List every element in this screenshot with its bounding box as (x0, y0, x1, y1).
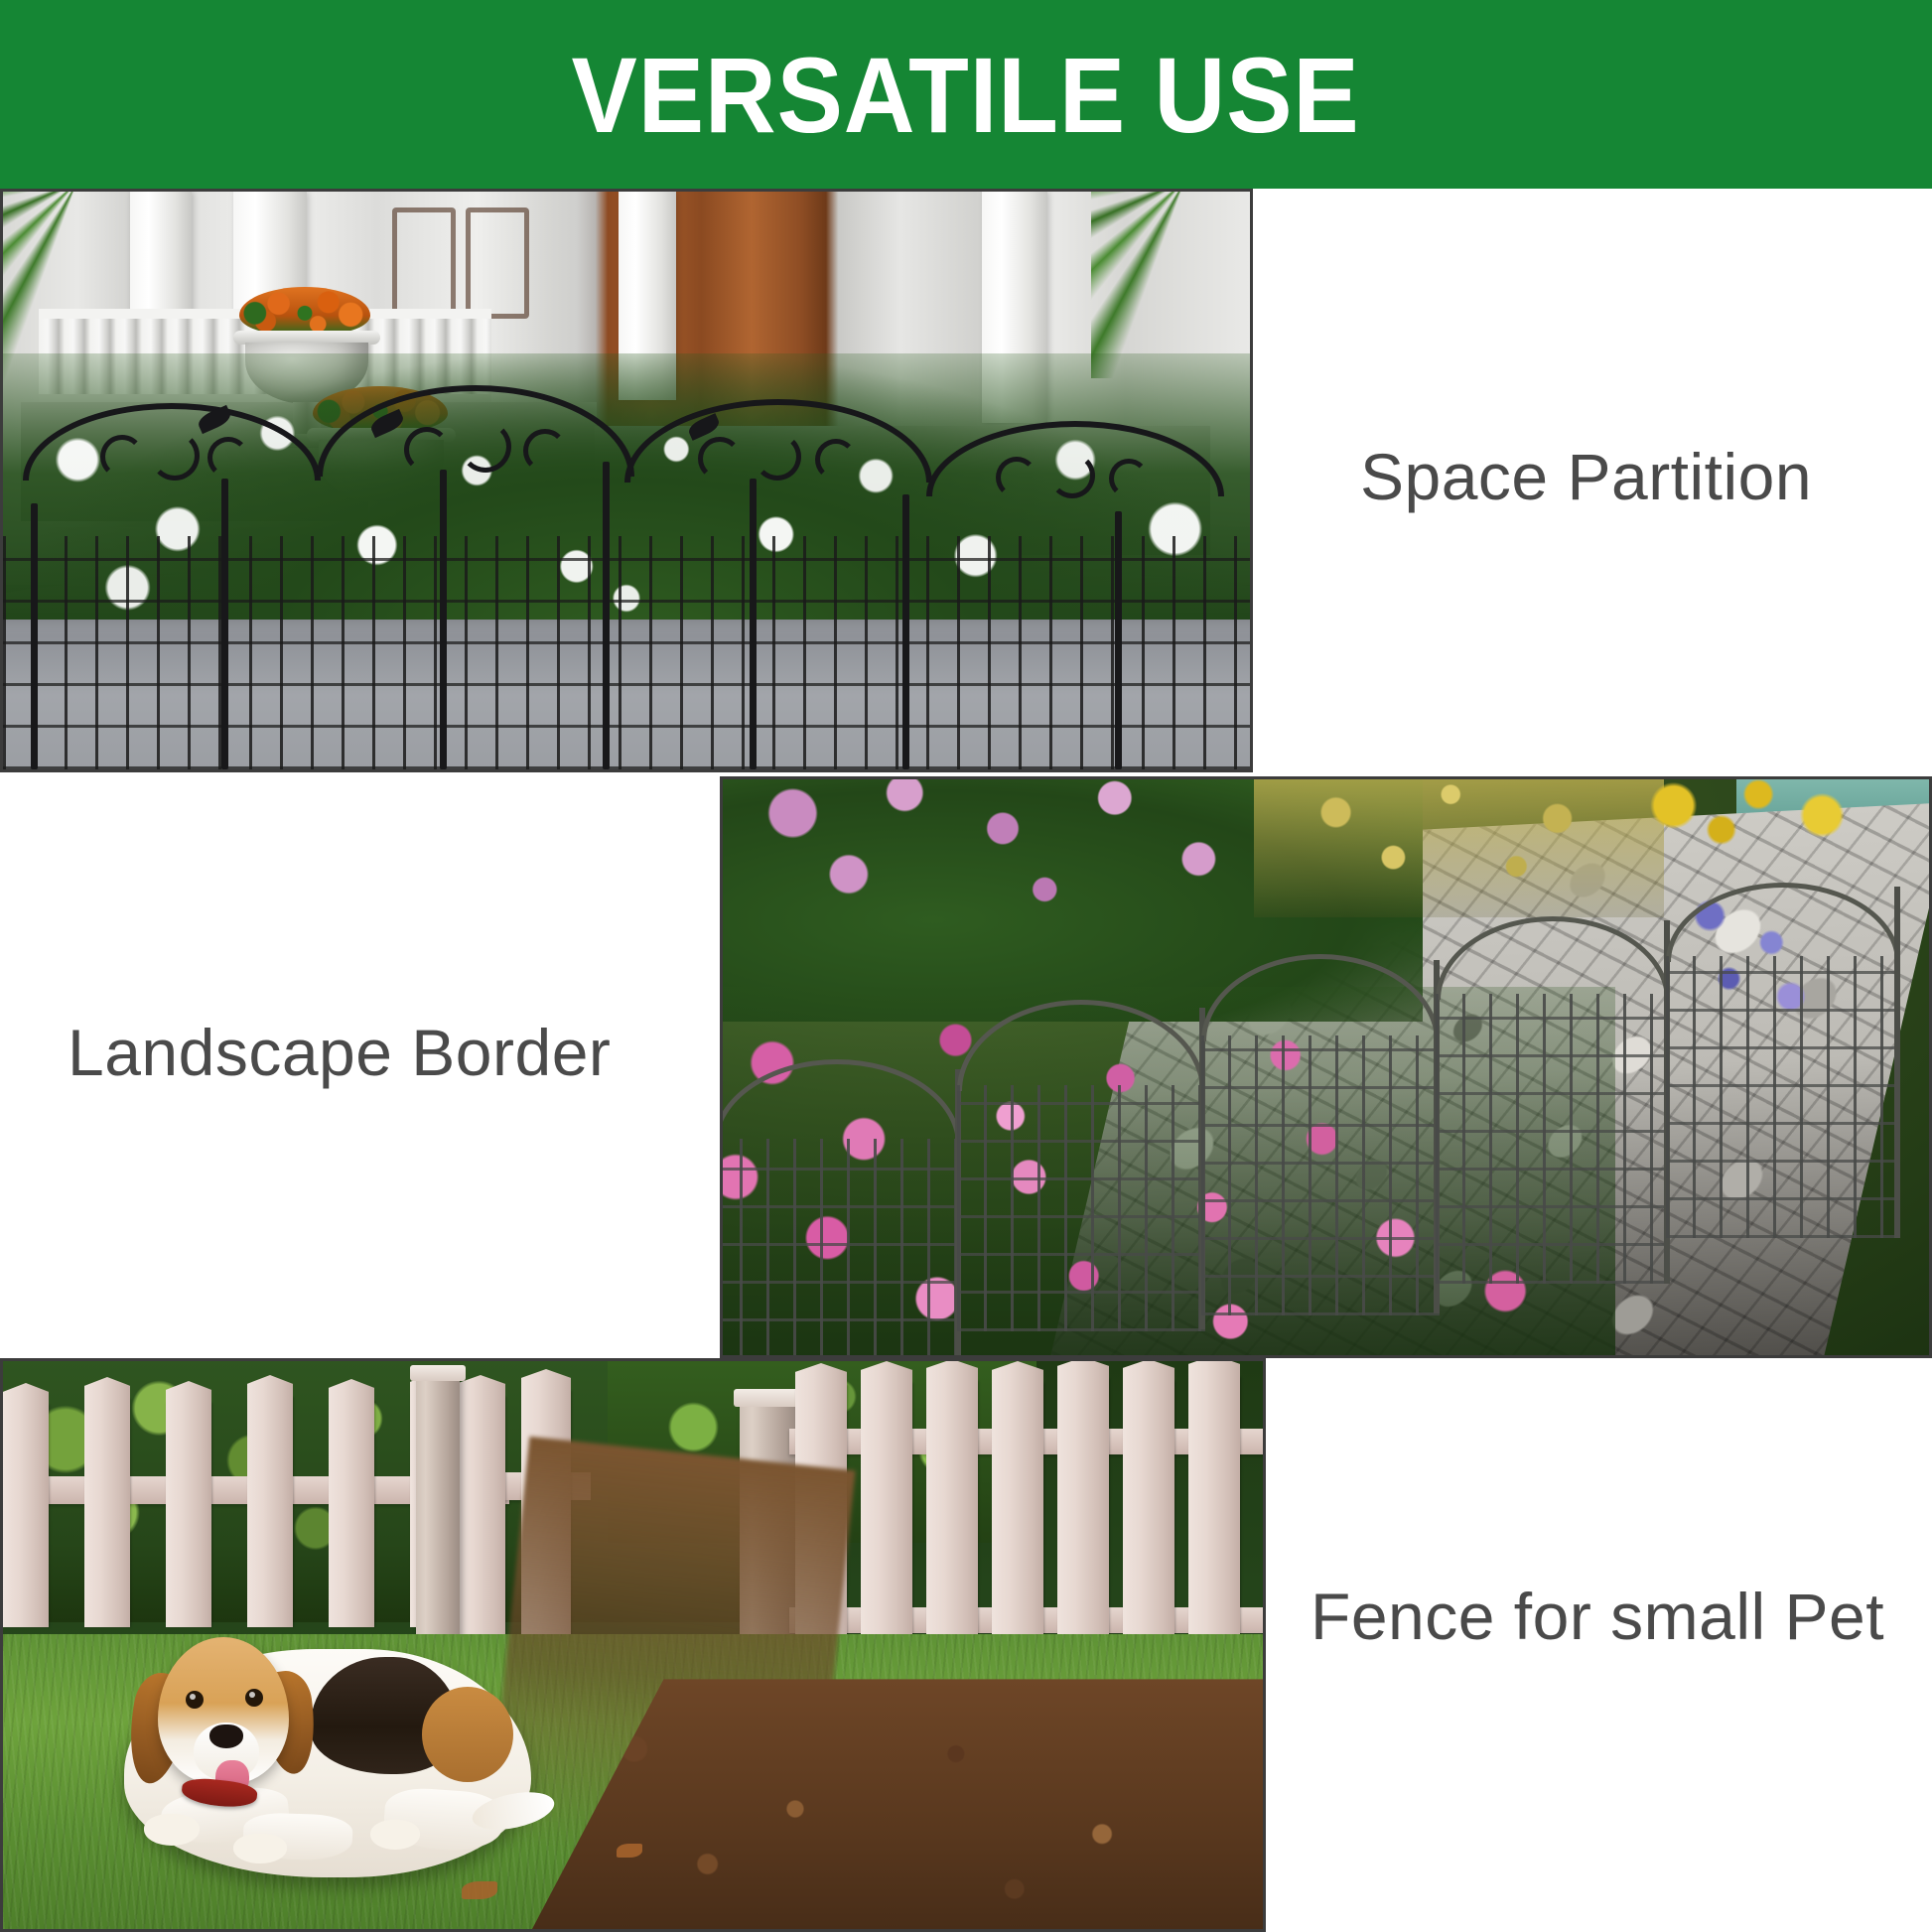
door-panel (466, 207, 529, 319)
beagle-dog (124, 1649, 531, 1877)
iron-scroll (207, 437, 249, 479)
iron-scroll (815, 439, 857, 481)
fence-picket (84, 1399, 130, 1627)
dog-eye (186, 1691, 204, 1709)
fence-arch (957, 1000, 1205, 1091)
fence-picket (247, 1397, 293, 1627)
dog-paw (370, 1820, 420, 1850)
scene-landscape-border (723, 779, 1929, 1355)
fence-arch (1666, 883, 1900, 962)
fallen-leaf (617, 1844, 642, 1858)
page-title: VERSATILE USE (572, 33, 1360, 157)
fence-panel (1201, 954, 1440, 1311)
fence-arch (1201, 954, 1440, 1041)
door-panel (392, 207, 456, 319)
dog-tan-marking (422, 1687, 513, 1782)
fence-panel (1666, 883, 1900, 1236)
panel-space-partition (0, 189, 1253, 772)
panel-fence-for-small-pet (0, 1358, 1266, 1932)
iron-scroll (100, 435, 144, 479)
fence-picket (3, 1405, 49, 1627)
iron-scroll (150, 431, 200, 481)
fence-mesh (3, 536, 1250, 769)
wrought-iron-fence (3, 353, 1250, 769)
fence-mesh (720, 1139, 961, 1358)
infographic-page: VERSATILE USE (0, 0, 1932, 1932)
fence-post (31, 503, 38, 769)
iron-scroll (1109, 459, 1149, 498)
caption-fence-for-small-pet: Fence for small Pet (1311, 1579, 1884, 1654)
iron-scroll (698, 437, 742, 481)
dog-paw (233, 1834, 287, 1863)
panel-landscape-border (720, 776, 1932, 1358)
iron-scroll (460, 421, 511, 473)
dog-nose (209, 1725, 243, 1748)
iron-scroll (996, 457, 1037, 498)
gate-post (416, 1375, 460, 1659)
fallen-leaf (462, 1881, 497, 1899)
fence-mesh (1666, 956, 1900, 1238)
scene-space-partition (3, 192, 1250, 769)
dog-paw (144, 1814, 200, 1846)
fence-panel (1436, 916, 1670, 1282)
fence-post (902, 494, 909, 769)
caption-landscape-border: Landscape Border (68, 1015, 611, 1090)
fence-picket (166, 1403, 211, 1627)
fence-mesh (1436, 994, 1670, 1284)
iron-scroll (404, 427, 450, 473)
iron-scroll (754, 433, 801, 481)
scene-fence-for-small-pet (3, 1361, 1263, 1929)
fence-panel (957, 1000, 1205, 1327)
fence-mesh (957, 1085, 1205, 1331)
steel-garden-fence (723, 779, 1929, 1355)
fence-picket (329, 1401, 374, 1627)
iron-scroll (523, 429, 567, 473)
fence-panel (720, 1059, 961, 1357)
palm-frond (1091, 189, 1253, 378)
gate-post-cap (410, 1365, 466, 1381)
fence-arch (1436, 916, 1670, 1000)
fence-scrollwork-band (3, 375, 1250, 524)
fence-post (1894, 887, 1900, 1238)
fence-mesh (1201, 1035, 1440, 1315)
fence-picket (456, 1397, 505, 1645)
header-banner: VERSATILE USE (0, 0, 1932, 189)
fence-arch (720, 1059, 961, 1145)
fence-post (1115, 511, 1122, 769)
caption-space-partition: Space Partition (1360, 439, 1812, 514)
dog-eye (245, 1689, 263, 1707)
iron-scroll (1049, 453, 1095, 498)
